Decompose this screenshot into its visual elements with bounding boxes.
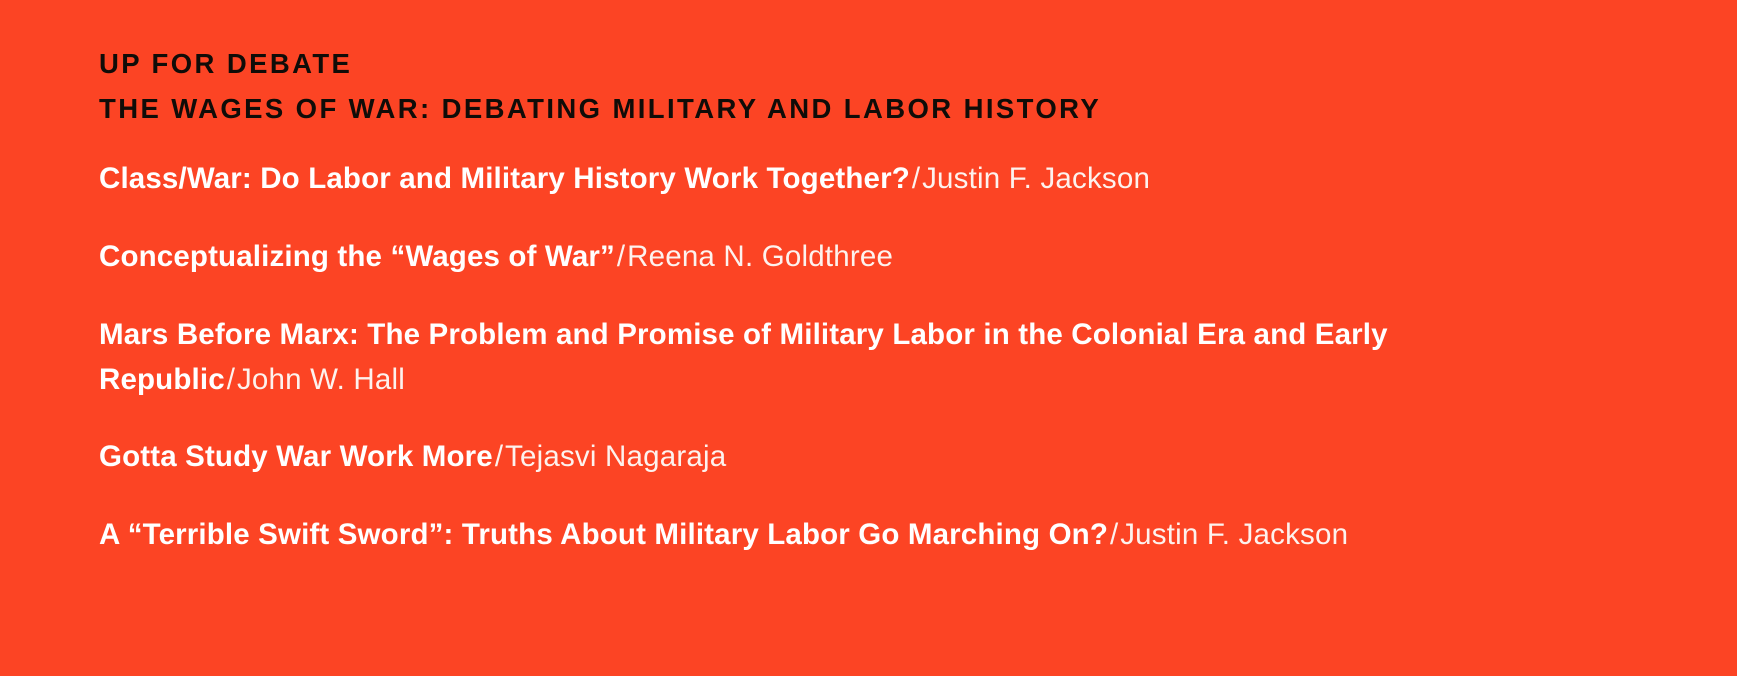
list-item[interactable]: Conceptualizing the “Wages of War”/Reena…: [99, 235, 1489, 280]
title-author-separator: /: [615, 240, 627, 273]
list-item[interactable]: Gotta Study War Work More/Tejasvi Nagara…: [99, 435, 1489, 480]
article-title[interactable]: Gotta Study War Work More: [99, 440, 493, 473]
article-author[interactable]: Reena N. Goldthree: [627, 240, 893, 273]
series-title: THE WAGES OF WAR: DEBATING MILITARY AND …: [99, 87, 1737, 132]
section-kicker: UP FOR DEBATE: [99, 42, 1737, 87]
title-author-separator: /: [493, 440, 505, 473]
article-list: Class/War: Do Labor and Military History…: [99, 157, 1499, 558]
title-author-separator: /: [1108, 518, 1120, 551]
article-title[interactable]: Conceptualizing the “Wages of War”: [99, 240, 615, 273]
article-title[interactable]: Class/War: Do Labor and Military History…: [99, 162, 910, 195]
article-author[interactable]: Justin F. Jackson: [922, 162, 1150, 195]
title-author-separator: /: [910, 162, 922, 195]
title-author-separator: /: [225, 363, 237, 396]
journal-contents-panel: UP FOR DEBATE THE WAGES OF WAR: DEBATING…: [0, 0, 1737, 676]
article-title[interactable]: A “Terrible Swift Sword”: Truths About M…: [99, 518, 1108, 551]
article-author[interactable]: Justin F. Jackson: [1120, 518, 1348, 551]
list-item[interactable]: Mars Before Marx: The Problem and Promis…: [99, 313, 1489, 403]
article-author[interactable]: Tejasvi Nagaraja: [505, 440, 726, 473]
list-item[interactable]: Class/War: Do Labor and Military History…: [99, 157, 1489, 202]
article-author[interactable]: John W. Hall: [237, 363, 405, 396]
list-item[interactable]: A “Terrible Swift Sword”: Truths About M…: [99, 513, 1489, 558]
section-header: UP FOR DEBATE THE WAGES OF WAR: DEBATING…: [99, 42, 1737, 131]
